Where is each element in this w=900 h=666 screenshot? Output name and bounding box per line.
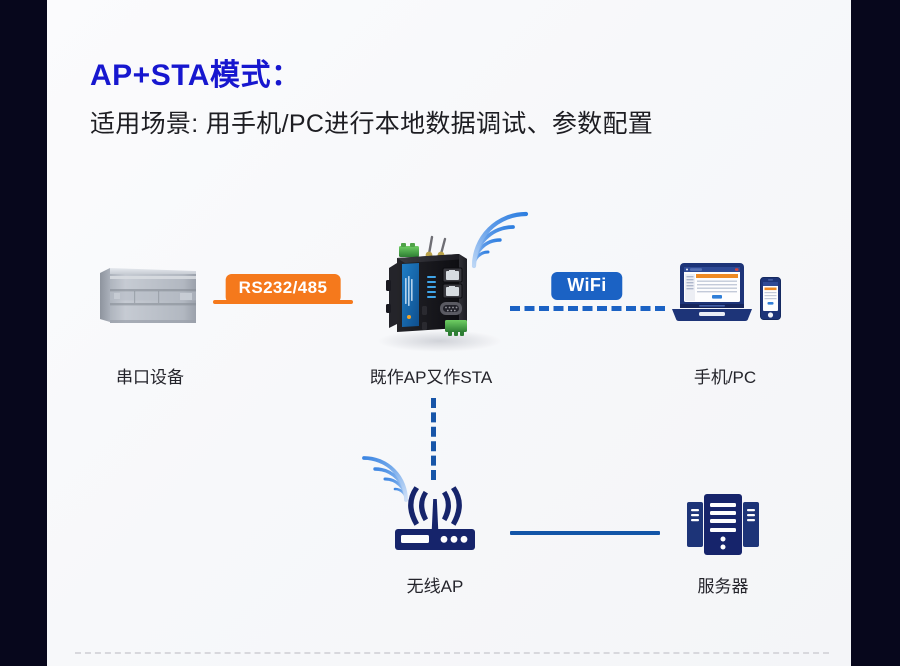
label-server: 服务器	[698, 572, 749, 597]
page-subtitle: 适用场景: 用手机/PC进行本地数据调试、参数配置	[90, 104, 653, 140]
server-icon	[687, 492, 759, 560]
label-gateway: 既作AP又作STA	[370, 363, 492, 388]
badge-rs232-485: RS232/485	[226, 274, 341, 303]
label-phone-pc: 手机/PC	[694, 363, 756, 388]
plc-icon	[100, 265, 200, 327]
diagram-canvas: AP+STA模式： 适用场景: 用手机/PC进行本地数据调试、参数配置 RS23…	[47, 0, 851, 666]
connector-gateway-to-ap	[431, 398, 436, 480]
connector-wifi	[510, 306, 665, 311]
bottom-divider	[75, 652, 829, 654]
page-title: AP+STA模式：	[90, 50, 301, 94]
laptop-phone-icon	[669, 262, 755, 324]
label-wireless-ap: 无线AP	[407, 572, 464, 597]
connector-ap-to-server	[510, 531, 660, 535]
industrial-gateway-icon	[383, 232, 487, 342]
page-root: AP+STA模式： 适用场景: 用手机/PC进行本地数据调试、参数配置 RS23…	[0, 0, 900, 666]
label-serial-device: 串口设备	[116, 363, 184, 388]
smartphone-icon	[760, 277, 781, 320]
router-icon	[390, 485, 480, 553]
badge-wifi: WiFi	[551, 272, 622, 300]
